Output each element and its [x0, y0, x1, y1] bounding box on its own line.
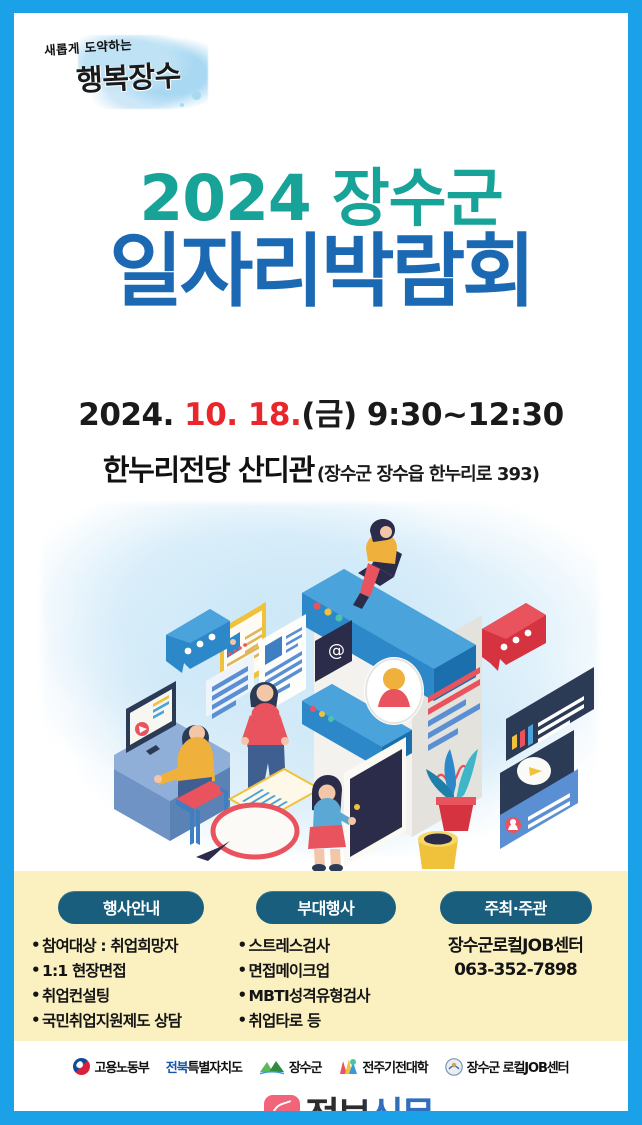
- list-item: 1:1 현장면접: [42, 959, 235, 984]
- list-item: 취업타로 등: [249, 1009, 418, 1034]
- watermark-label: 정보신문: [305, 1085, 433, 1111]
- title-line-2: 일자리박람회: [14, 234, 628, 311]
- list-item: MBTI성격유형검사: [249, 984, 418, 1009]
- title-line-1: 2024 장수군: [14, 168, 628, 230]
- event-year: 2024.: [78, 397, 174, 433]
- jeonju-kijeon-icon: [338, 1058, 358, 1076]
- poster: 새롭게 도약하는 행복장수 2024 장수군 일자리박람회 2024. 10. …: [0, 0, 642, 1125]
- logo-jeonbuk-special-province: 전북특별자치도: [166, 1057, 242, 1076]
- hero-illustration: @: [14, 501, 628, 871]
- brand-name: 행복장수: [75, 52, 182, 99]
- watermark-jeongbo-sinmun: 정보신문: [264, 1085, 433, 1111]
- event-date-line: 2024. 10. 18.(금) 9:30~12:30: [14, 389, 628, 434]
- venue-address: (장수군 장수읍 한누리로 393): [317, 464, 539, 485]
- list-item: 참여대상 : 취업희망자: [42, 934, 235, 959]
- list-item: 면접메이크업: [249, 959, 418, 984]
- list-item: 국민취업지원제도 상담: [42, 1009, 235, 1034]
- event-guide-list: 참여대상 : 취업희망자 1:1 현장면접 취업컨설팅 국민취업지원제도 상담: [28, 934, 235, 1034]
- list-item: 취업컨설팅: [42, 984, 235, 1009]
- watermark-badge-icon: [264, 1095, 300, 1112]
- page-title: 2024 장수군 일자리박람회: [14, 168, 628, 311]
- jeonbuk-accent: 전북: [166, 1061, 188, 1076]
- info-heading-side-events: 부대행사: [256, 891, 396, 924]
- jangsu-mountain-icon: [259, 1059, 285, 1075]
- event-day-time: (금) 9:30~12:30: [301, 397, 563, 433]
- info-panel: 행사안내 참여대상 : 취업희망자 1:1 현장면접 취업컨설팅 국민취업지원제…: [14, 871, 628, 1041]
- logo-jangsu-local-job-center: 장수군 로컬JOB센터: [445, 1057, 569, 1076]
- taegeuk-icon: [73, 1058, 90, 1075]
- logo-ministry-of-employment-and-labor: 고용노동부: [73, 1057, 148, 1076]
- venue-name: 한누리전당 산디관: [103, 453, 314, 487]
- info-heading-host: 주최·주관: [440, 891, 592, 924]
- jeonbuk-rest: 특별자치도: [188, 1061, 242, 1076]
- watercolor-dot-icon: [192, 91, 201, 100]
- watercolor-dot-icon: [180, 103, 184, 107]
- info-columns: 행사안내 참여대상 : 취업희망자 1:1 현장면접 취업컨설팅 국민취업지원제…: [14, 871, 628, 1034]
- jangsu-jobcenter-icon: [445, 1058, 463, 1076]
- info-column-event-guide: 행사안내 참여대상 : 취업희망자 1:1 현장면접 취업컨설팅 국민취업지원제…: [28, 891, 235, 1034]
- logo-jeonju-kijeon-college: 전주기전대학: [338, 1057, 427, 1076]
- logo-label: 장수군: [289, 1057, 322, 1076]
- info-column-host: 주최·주관 장수군로컬JOB센터 063-352-7898: [417, 891, 614, 1034]
- svg-text:@: @: [328, 641, 345, 661]
- logo-jangsu-county: 장수군: [259, 1057, 322, 1076]
- event-venue-line: 한누리전당 산디관(장수군 장수읍 한누리로 393): [14, 447, 628, 489]
- brand-logo: 새롭게 도약하는 행복장수: [30, 31, 220, 113]
- logo-label: 전북특별자치도: [166, 1057, 242, 1076]
- isometric-job-fair-illustration-icon: @: [14, 501, 628, 871]
- side-events-list: 스트레스검사 면접메이크업 MBTI성격유형검사 취업타로 등: [235, 934, 418, 1034]
- logo-label: 장수군 로컬JOB센터: [467, 1057, 569, 1076]
- host-phone[interactable]: 063-352-7898: [417, 958, 614, 982]
- poster-sheet: 새롭게 도약하는 행복장수 2024 장수군 일자리박람회 2024. 10. …: [14, 13, 628, 1111]
- event-date: 10. 18.: [184, 397, 301, 433]
- info-column-side-events: 부대행사 스트레스검사 면접메이크업 MBTI성격유형검사 취업타로 등: [235, 891, 418, 1034]
- logo-label: 고용노동부: [94, 1057, 148, 1076]
- info-heading-event-guide: 행사안내: [58, 891, 204, 924]
- partner-logo-row: 고용노동부 전북특별자치도 장수군: [14, 1057, 628, 1076]
- host-organization: 장수군로컬JOB센터: [417, 934, 614, 958]
- list-item: 스트레스검사: [249, 934, 418, 959]
- footer: 고용노동부 전북특별자치도 장수군: [14, 1041, 628, 1111]
- logo-label: 전주기전대학: [362, 1057, 427, 1076]
